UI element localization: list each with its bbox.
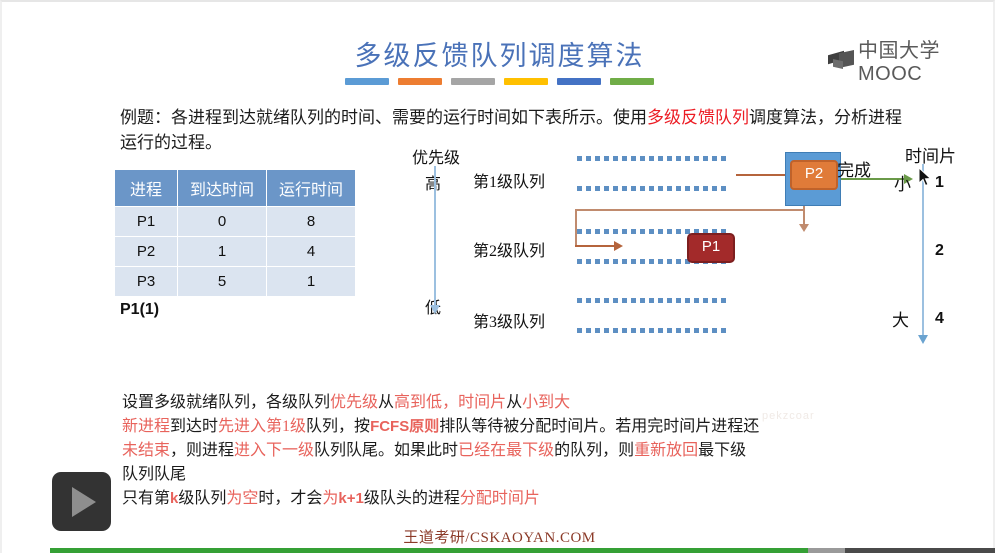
note5-e: 时，才会 [258,490,322,507]
cell-arrival: 0 [178,207,267,237]
queue-track-3-bottom [577,328,727,333]
title-bar-2 [398,78,442,85]
note3-g: 重新放回 [634,442,698,459]
note3-c: 进入下一级 [234,442,314,459]
queue-label-2: 第2级队列 [473,237,545,261]
title-bar-5 [557,78,601,85]
feedback-path-from-cpu [803,204,805,225]
timeslice-small-label: 小 [894,170,911,195]
note1-e: ， [442,394,458,411]
process-table: 进程 到达时间 运行时间 P1 0 8 P2 1 4 P3 5 1 [114,169,356,297]
note2-c: 先进入第1级 [218,418,306,435]
timeslice-axis-label: 时间片 [905,142,956,167]
table-header-runtime: 运行时间 [267,170,356,207]
queued-process-box: P1 [687,233,735,263]
note3-b: ，则进程 [170,442,234,459]
timeslice-big-label: 大 [892,306,909,331]
title-bar-4 [504,78,548,85]
note2-f: 排队等待被分配时间片。若用完时间片进程还 [439,418,759,435]
example-text-highlight: 多级反馈队列 [647,108,749,127]
note5-a: 只有第 [122,490,170,507]
note3-d: 队列队尾。如果此时 [314,442,458,459]
complete-label: 完成 [837,156,871,181]
timeslice-axis-arrow [922,164,924,336]
mlfq-diagram: 优先级 高 低 第1级队列 第2级队列 第3级队列 CPU P2 完成 P1 时… [407,142,987,357]
timeslice-value-2: 2 [935,242,944,260]
note1-c: 从 [378,394,394,411]
running-process-box: P2 [790,160,838,190]
queue-track-1-bottom [577,186,727,191]
title-decoration-bars [2,78,995,85]
footer-text: 王道考研/CSKAOYAN.COM [2,526,995,547]
note1-d: 高到低 [394,394,442,411]
queue-label-1: 第1级队列 [473,168,545,192]
table-row: P2 1 4 [115,237,356,267]
cell-process: P3 [115,267,178,297]
queue-label-3: 第3级队列 [473,308,545,332]
note2-e: FCFS原则 [370,418,439,435]
watermark-text: pekzcoar [762,410,815,422]
queue-track-3-top [577,298,727,303]
cell-process: P2 [115,237,178,267]
title-bar-3 [451,78,495,85]
cell-runtime: 4 [267,237,356,267]
note5-h: 级队头的进程 [364,490,460,507]
table-header-process: 进程 [115,170,178,207]
note5-i: 分配时间片 [460,490,540,507]
cell-runtime: 8 [267,207,356,237]
note-line-3: 未结束，则进程进入下一级队列队尾。如果此时已经在最下级的队列，则重新放回最下级 [122,439,882,463]
note1-b: 优先级 [330,394,378,411]
priority-high-label: 高 [425,170,441,194]
note1-h: 小到大 [522,394,570,411]
feedback-arrow-icon [575,245,615,247]
note2-b: 到达时 [170,418,218,435]
note5-f: 为 [322,490,338,507]
title-bar-6 [610,78,654,85]
play-icon [72,487,96,517]
timeslice-value-1: 1 [935,174,944,192]
cell-arrival: 1 [178,237,267,267]
current-process-annotation: P1(1) [120,301,159,319]
feedback-path-vertical [575,209,577,246]
note3-h: 最下级 [698,442,746,459]
slide-canvas: 中国大学MOOC 多级反馈队列调度算法 例题：各进程到达就绪队列的时间、需要的运… [0,0,995,553]
table-header-arrival: 到达时间 [178,170,267,207]
table-row: P3 5 1 [115,267,356,297]
cell-runtime: 1 [267,267,356,297]
table-row: P1 0 8 [115,207,356,237]
note3-a: 未结束 [122,442,170,459]
video-progress-bar[interactable] [50,548,995,553]
progress-buffer [808,548,846,553]
feedback-path-horizontal [575,209,805,211]
play-button[interactable] [52,472,111,531]
note1-a: 设置多级就绪队列，各级队列 [122,394,330,411]
progress-fill [50,548,808,553]
note2-d: 队列，按 [306,418,370,435]
note1-f: 时间片 [458,394,506,411]
note-line-4: 队列队尾 [122,463,882,487]
note5-d: 为空 [226,490,258,507]
note-line-5: 只有第k级队列为空时，才会为k+1级队头的进程分配时间片 [122,487,882,511]
cell-arrival: 5 [178,267,267,297]
note3-e: 已经在最下级 [458,442,554,459]
title-bar-1 [345,78,389,85]
algorithm-notes: 设置多级就绪队列，各级队列优先级从高到低，时间片从小到大 新进程到达时先进入第1… [122,391,882,511]
table-header-row: 进程 到达时间 运行时间 [115,170,356,207]
cell-process: P1 [115,207,178,237]
note5-g: k+1 [338,490,363,507]
note3-f: 的队列，则 [554,442,634,459]
timeslice-value-3: 4 [935,310,944,328]
priority-axis-label: 优先级 [412,144,460,168]
page-title: 多级反馈队列调度算法 [2,34,995,73]
example-text-part1: 例题：各进程到达就绪队列的时间、需要的运行时间如下表所示。使用 [120,108,647,127]
note2-a: 新进程 [122,418,170,435]
note5-c: 级队列 [178,490,226,507]
priority-axis-arrow [434,166,436,306]
note1-g: 从 [506,394,522,411]
queue-track-1-top [577,156,727,161]
dispatch-arrow-icon [736,174,788,176]
